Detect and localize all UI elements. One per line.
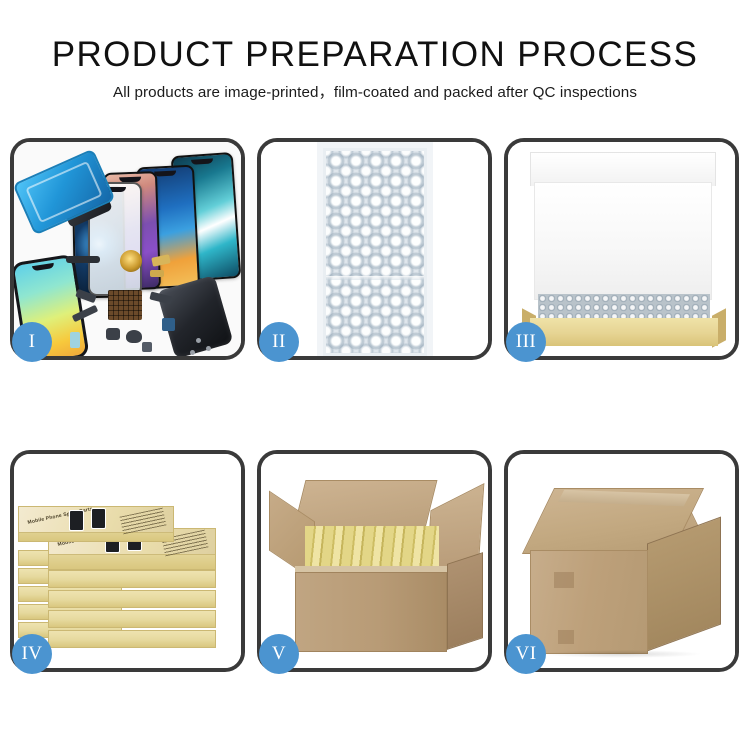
screw-icon bbox=[190, 350, 195, 355]
carton-patch bbox=[558, 630, 574, 644]
box-front-panel bbox=[530, 318, 718, 346]
box-printed-face: Mobile Phone Spare Parts bbox=[19, 507, 173, 533]
step-panel-i[interactable]: I bbox=[10, 138, 245, 360]
bubble-wrapped-product bbox=[323, 148, 427, 356]
speaker-coil-icon bbox=[120, 250, 142, 272]
bubble-film-icon bbox=[326, 151, 424, 353]
carton-shadow bbox=[542, 650, 702, 658]
step-image-iv: Mobile Phone Spare Parts Mobile Phone Sp… bbox=[14, 454, 241, 668]
notch-icon bbox=[32, 263, 55, 271]
stacked-box bbox=[48, 610, 216, 628]
step-badge-vi: VI bbox=[506, 634, 546, 674]
step-image-ii bbox=[261, 142, 488, 356]
step-image-v bbox=[261, 454, 488, 668]
page-title: PRODUCT PREPARATION PROCESS bbox=[0, 34, 750, 76]
step-panel-iii[interactable]: III bbox=[504, 138, 739, 360]
step-badge-ii: II bbox=[259, 322, 299, 362]
step-image-vi bbox=[508, 454, 735, 668]
stacked-boxes-illustration: Mobile Phone Spare Parts Mobile Phone Sp… bbox=[14, 454, 241, 668]
stacked-box bbox=[48, 590, 216, 608]
bubble-wrap-illustration bbox=[261, 142, 488, 356]
carton-front-face bbox=[530, 550, 648, 654]
printed-box-rear: Mobile Phone Spare Parts bbox=[18, 506, 174, 542]
step-image-i bbox=[14, 142, 241, 356]
box-spec-lines bbox=[120, 508, 167, 535]
box-back-panel bbox=[534, 182, 712, 300]
step-panel-iv[interactable]: Mobile Phone Spare Parts Mobile Phone Sp… bbox=[10, 450, 245, 672]
step-panel-vi[interactable]: VI bbox=[504, 450, 739, 672]
page-subtitle: All products are image-printed，film-coat… bbox=[0, 83, 750, 103]
bubble-wrapped-contents bbox=[538, 294, 710, 320]
header: PRODUCT PREPARATION PROCESS All products… bbox=[0, 34, 750, 103]
open-inner-box-illustration bbox=[508, 142, 735, 356]
battery-icon bbox=[70, 332, 80, 348]
step-panel-v[interactable]: V bbox=[257, 450, 492, 672]
chip-grid-icon bbox=[108, 290, 142, 320]
step-badge-i: I bbox=[12, 322, 52, 362]
film-seam bbox=[326, 276, 424, 280]
box-lid-icon bbox=[530, 152, 716, 186]
sim-tray-icon bbox=[162, 318, 175, 331]
screw-icon bbox=[206, 346, 211, 351]
vibrator-motor-icon bbox=[126, 330, 142, 343]
carton-front-panel bbox=[295, 572, 447, 652]
step-panel-ii[interactable]: II bbox=[257, 138, 492, 360]
step-image-iii bbox=[508, 142, 735, 356]
open-carton-illustration bbox=[261, 454, 488, 668]
step-badge-iv: IV bbox=[12, 634, 52, 674]
carton-side-panel bbox=[447, 552, 483, 650]
notch-icon bbox=[154, 171, 176, 177]
notch-icon bbox=[191, 158, 213, 165]
screw-icon bbox=[196, 338, 201, 343]
step-badge-v: V bbox=[259, 634, 299, 674]
stacked-box bbox=[48, 630, 216, 648]
carton-patch bbox=[554, 572, 574, 588]
camera-module-icon bbox=[106, 328, 120, 340]
step-badge-iii: III bbox=[506, 322, 546, 362]
phone-housing-icon bbox=[157, 275, 234, 356]
gold-flex-icon bbox=[150, 270, 164, 277]
sealed-carton-illustration bbox=[508, 454, 735, 668]
phone-print-icon bbox=[69, 510, 84, 531]
button-part-icon bbox=[142, 342, 152, 352]
product-preparation-infographic: PRODUCT PREPARATION PROCESS All products… bbox=[0, 0, 750, 750]
stacked-box bbox=[48, 570, 216, 588]
steps-grid: I II bbox=[10, 138, 740, 684]
earpiece-speaker-icon bbox=[66, 256, 100, 263]
phone-print-icon bbox=[91, 508, 106, 529]
phones-and-parts-illustration bbox=[14, 142, 241, 356]
